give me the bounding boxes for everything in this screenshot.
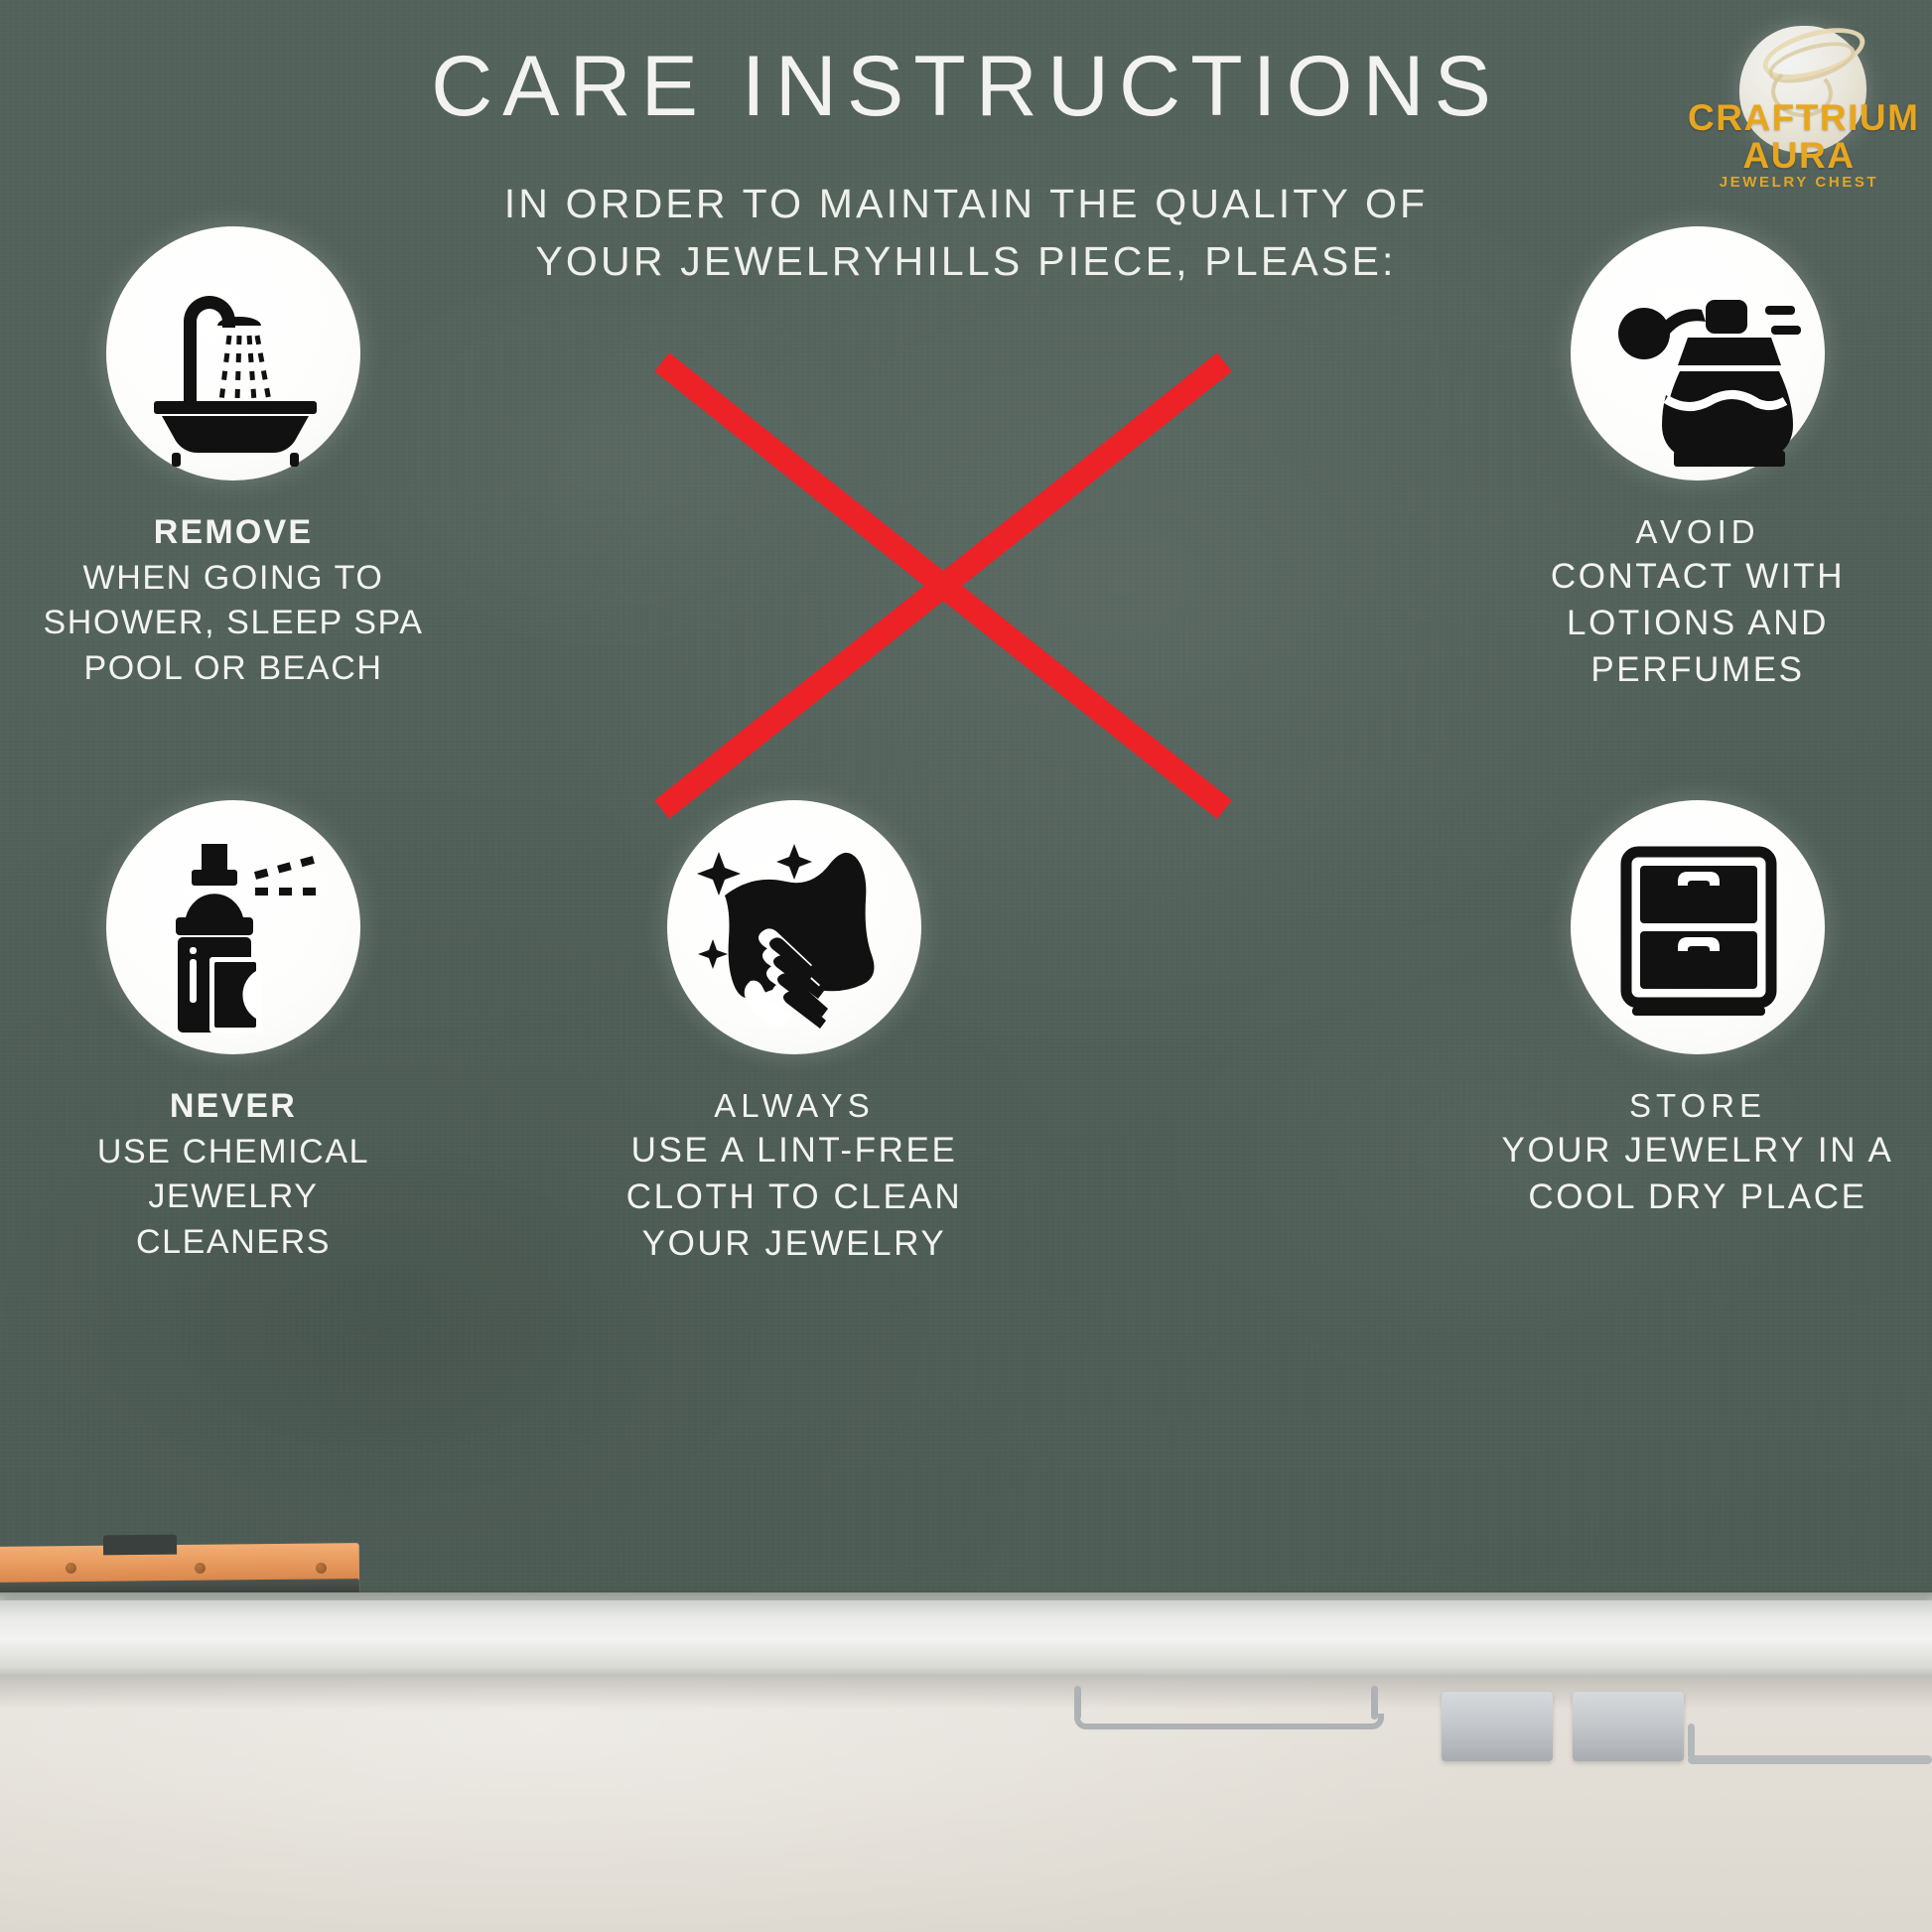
care-card-store: STORE YOUR JEWELRY IN A COOL DRY PLACE: [1469, 800, 1926, 1221]
card-body-line: USE CHEMICAL: [5, 1130, 462, 1175]
wire-handle: [1074, 1714, 1384, 1729]
logo-name-line-2: AURA: [1688, 137, 1910, 174]
card-body-line: COOL DRY PLACE: [1469, 1174, 1926, 1221]
icon-badge: [1571, 800, 1825, 1054]
card-heading: AVOID: [1469, 510, 1926, 554]
spray-can-icon: [106, 800, 360, 1054]
card-body-line: USE A LINT-FREE: [566, 1128, 1023, 1174]
care-card-avoid: AVOID CONTACT WITH LOTIONS AND PERFUMES: [1469, 226, 1926, 694]
logo-name-line-1: CRAFTRIUM: [1688, 99, 1910, 136]
card-heading: ALWAYS: [566, 1084, 1023, 1128]
card-caption: NEVER USE CHEMICAL JEWELRY CLEANERS: [5, 1084, 462, 1265]
card-body-line: WHEN GOING TO: [5, 556, 462, 602]
card-heading: STORE: [1469, 1084, 1926, 1128]
wire-rail: [1688, 1755, 1932, 1764]
eraser-rivet: [195, 1563, 206, 1574]
card-body-line: PERFUMES: [1469, 647, 1926, 694]
card-caption: AVOID CONTACT WITH LOTIONS AND PERFUMES: [1469, 510, 1926, 694]
whiteboard-marker: [1573, 1692, 1684, 1761]
bathtub-shower-icon: [106, 226, 360, 481]
card-body-line: LOTIONS AND: [1469, 601, 1926, 647]
card-caption: REMOVE WHEN GOING TO SHOWER, SLEEP SPA P…: [5, 510, 462, 691]
card-body-line: SHOWER, SLEEP SPA: [5, 601, 462, 646]
icon-badge: [667, 800, 921, 1054]
card-body-line: CLEANERS: [5, 1220, 462, 1266]
care-instructions-poster: CARE INSTRUCTIONS IN ORDER TO MAINTAIN T…: [0, 0, 1932, 1932]
icon-badge: [106, 226, 360, 481]
card-caption: ALWAYS USE A LINT-FREE CLOTH TO CLEAN YO…: [566, 1084, 1023, 1268]
eraser-rivet: [316, 1563, 327, 1574]
brand-logo: CRAFTRIUM AURA JEWELRY CHEST: [1688, 24, 1910, 195]
eraser-clip: [103, 1535, 177, 1556]
card-body-line: CLOTH TO CLEAN: [566, 1174, 1023, 1221]
perfume-bottle-icon: [1571, 226, 1825, 481]
polishing-cloth-hand-icon: [667, 800, 921, 1054]
card-body-line: YOUR JEWELRY IN A: [1469, 1128, 1926, 1174]
card-body-line: CONTACT WITH: [1469, 554, 1926, 601]
card-body-line: YOUR JEWELRY: [566, 1221, 1023, 1268]
subtitle-line-1: IN ORDER TO MAINTAIN THE QUALITY OF: [0, 175, 1932, 232]
red-x-icon: [596, 308, 1291, 864]
card-body-line: JEWELRY: [5, 1174, 462, 1220]
wire-rail-upright: [1688, 1724, 1695, 1759]
card-heading: NEVER: [5, 1084, 462, 1130]
card-body-line: POOL OR BEACH: [5, 646, 462, 692]
whiteboard-marker: [1442, 1692, 1553, 1761]
care-card-never: NEVER USE CHEMICAL JEWELRY CLEANERS: [5, 800, 462, 1265]
page-title: CARE INSTRUCTIONS: [0, 42, 1932, 131]
care-card-always: ALWAYS USE A LINT-FREE CLOTH TO CLEAN YO…: [566, 800, 1023, 1268]
card-caption: STORE YOUR JEWELRY IN A COOL DRY PLACE: [1469, 1084, 1926, 1221]
card-heading: REMOVE: [5, 510, 462, 556]
wire-handle-right: [1371, 1686, 1378, 1720]
chalk-tray: [0, 1600, 1932, 1676]
icon-badge: [106, 800, 360, 1054]
care-card-remove: REMOVE WHEN GOING TO SHOWER, SLEEP SPA P…: [5, 226, 462, 691]
icon-badge: [1571, 226, 1825, 481]
logo-tagline: JEWELRY CHEST: [1688, 175, 1910, 190]
drawer-cabinet-icon: [1571, 800, 1825, 1054]
eraser-rivet: [66, 1563, 76, 1574]
